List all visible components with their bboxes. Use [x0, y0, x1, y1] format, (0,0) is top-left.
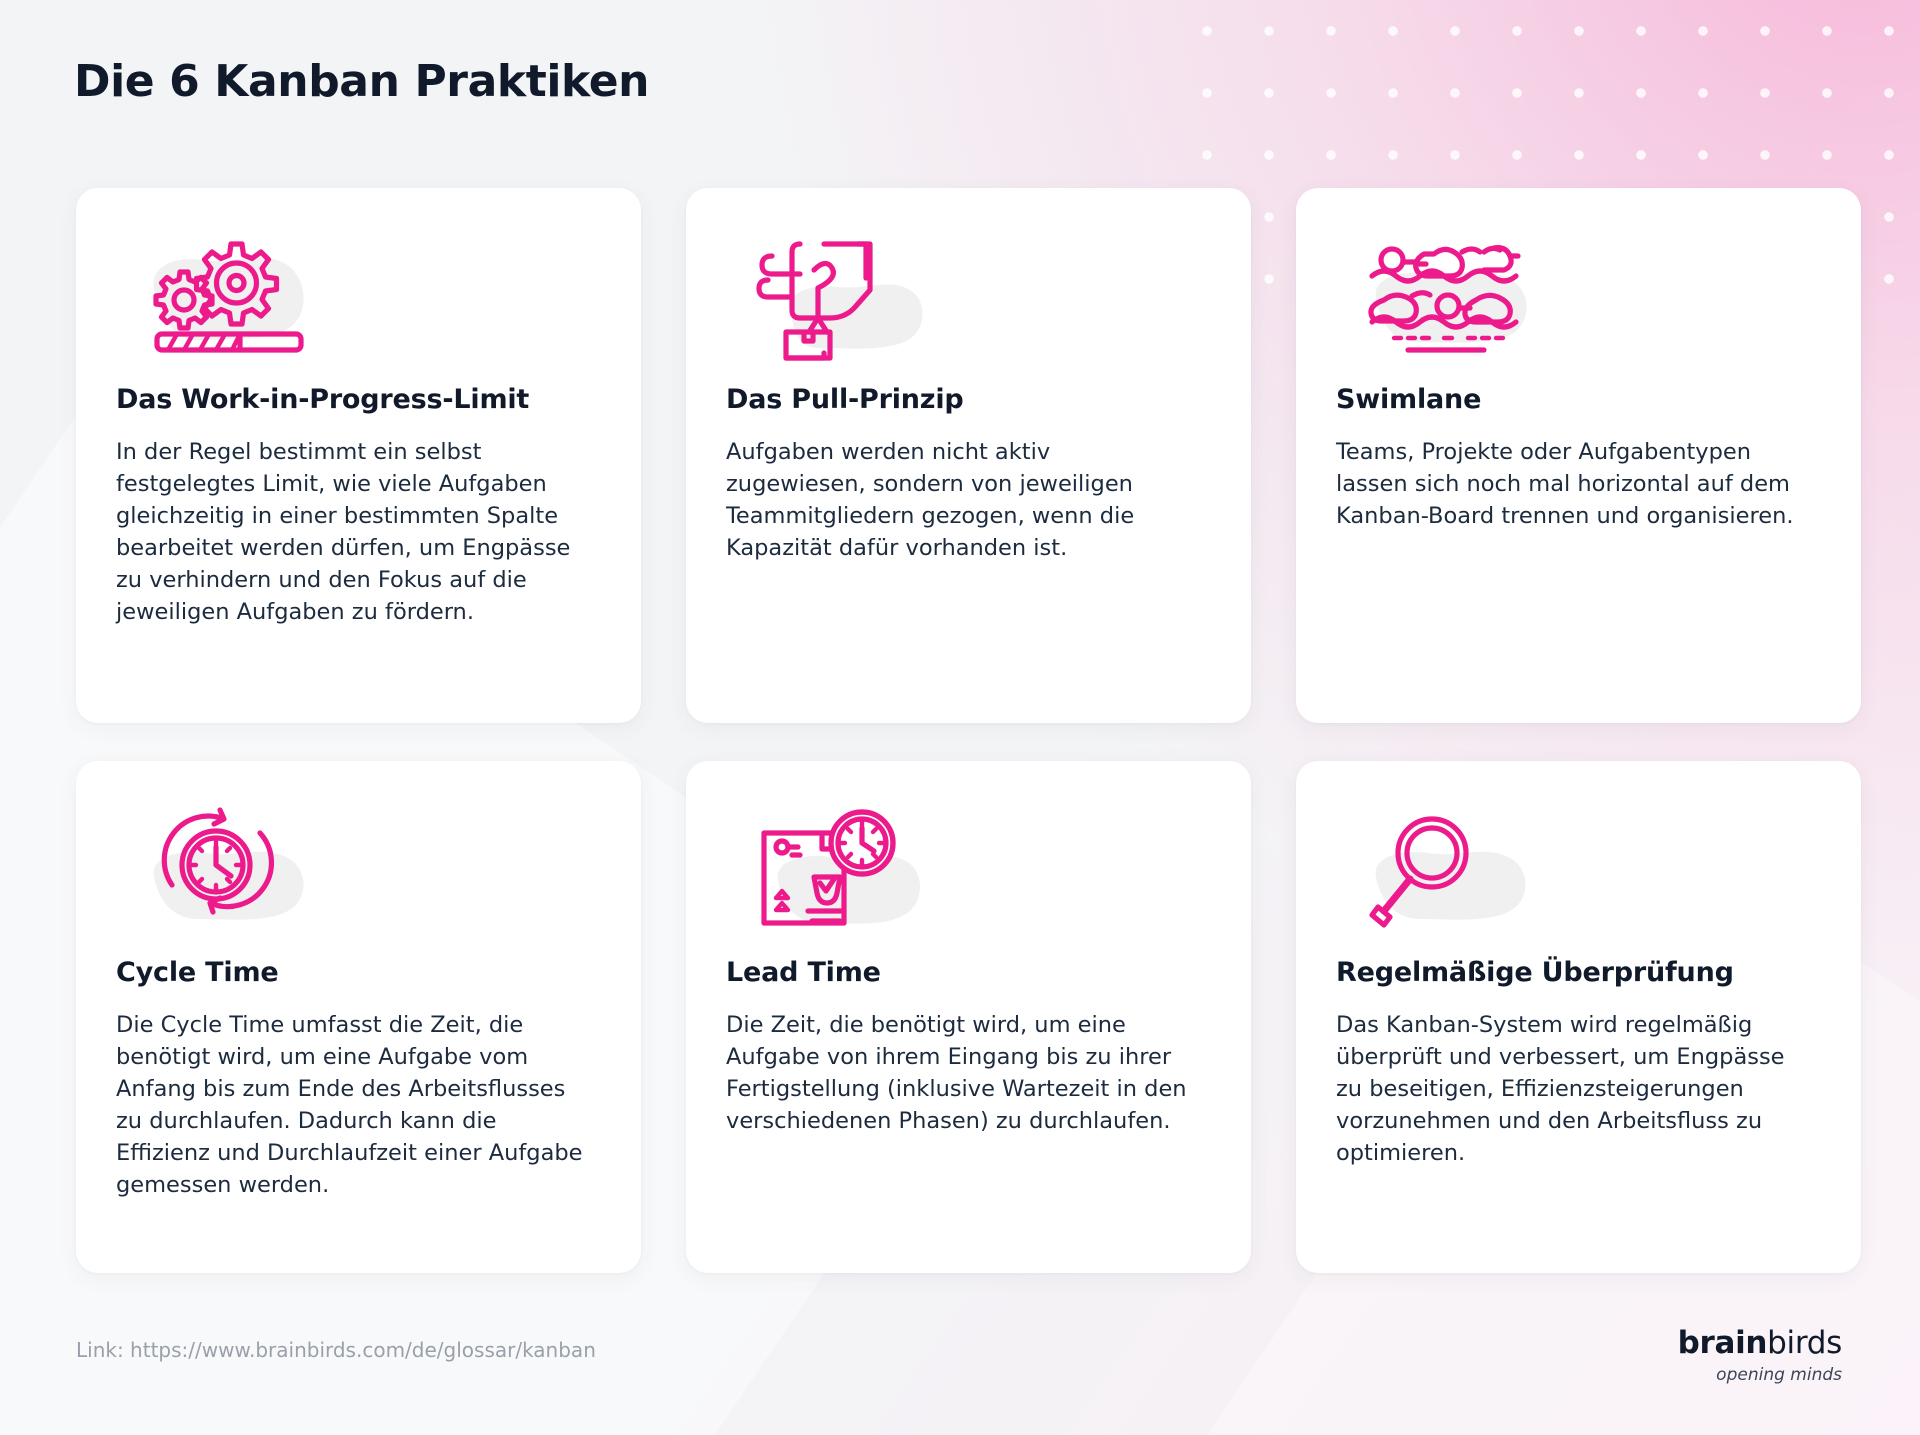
infographic-page: Die 6 Kanban Praktiken [0, 0, 1920, 1435]
source-link[interactable]: Link: https://www.brainbirds.com/de/glos… [76, 1338, 596, 1362]
card-heading: Lead Time [726, 957, 1211, 988]
page-title: Die 6 Kanban Praktiken [74, 56, 649, 107]
brainbirds-logo: brainbirds opening minds [1678, 1325, 1842, 1385]
card-body-text: Teams, Projekte oder Aufgabentypen lasse… [1336, 437, 1806, 533]
package-clock-icon [726, 795, 1211, 935]
card-swimlane: Swimlane Teams, Projekte oder Aufgabenty… [1296, 188, 1861, 723]
card-heading: Swimlane [1336, 384, 1821, 415]
card-regular-review: Regelmäßige Überprüfung Das Kanban-Syste… [1296, 761, 1861, 1273]
clock-cycle-arrows-icon [116, 795, 601, 935]
card-heading: Regelmäßige Überprüfung [1336, 957, 1821, 988]
card-lead-time: Lead Time Die Zeit, die benötigt wird, u… [686, 761, 1251, 1273]
card-body-text: Aufgaben werden nicht aktiv zugewiesen, … [726, 437, 1196, 565]
card-heading: Cycle Time [116, 957, 601, 988]
logo-wordmark: brainbirds [1678, 1325, 1842, 1361]
card-body-text: Das Kanban-System wird regelmäßig überpr… [1336, 1010, 1806, 1170]
magnifier-icon [1336, 795, 1821, 935]
card-work-in-progress-limit: Das Work-in-Progress-Limit In der Regel … [76, 188, 641, 723]
logo-wordmark-light: birds [1767, 1325, 1842, 1361]
card-pull-principle: Das Pull-Prinzip Aufgaben werden nicht a… [686, 188, 1251, 723]
gears-progress-icon [116, 222, 601, 362]
card-heading: Das Pull-Prinzip [726, 384, 1211, 415]
practices-card-grid: Das Work-in-Progress-Limit In der Regel … [76, 188, 1852, 1273]
card-body-text: In der Regel bestimmt ein selbst festgel… [116, 437, 586, 629]
logo-wordmark-bold: brain [1678, 1325, 1768, 1361]
card-body-text: Die Zeit, die benötigt wird, um eine Auf… [726, 1010, 1196, 1138]
card-body-text: Die Cycle Time umfasst die Zeit, die ben… [116, 1010, 586, 1202]
logo-tagline: opening minds [1678, 1365, 1842, 1385]
card-cycle-time: Cycle Time Die Cycle Time umfasst die Ze… [76, 761, 641, 1273]
card-heading: Das Work-in-Progress-Limit [116, 384, 601, 415]
hand-pulling-box-icon [726, 222, 1211, 362]
swimmers-lanes-icon [1336, 222, 1821, 362]
